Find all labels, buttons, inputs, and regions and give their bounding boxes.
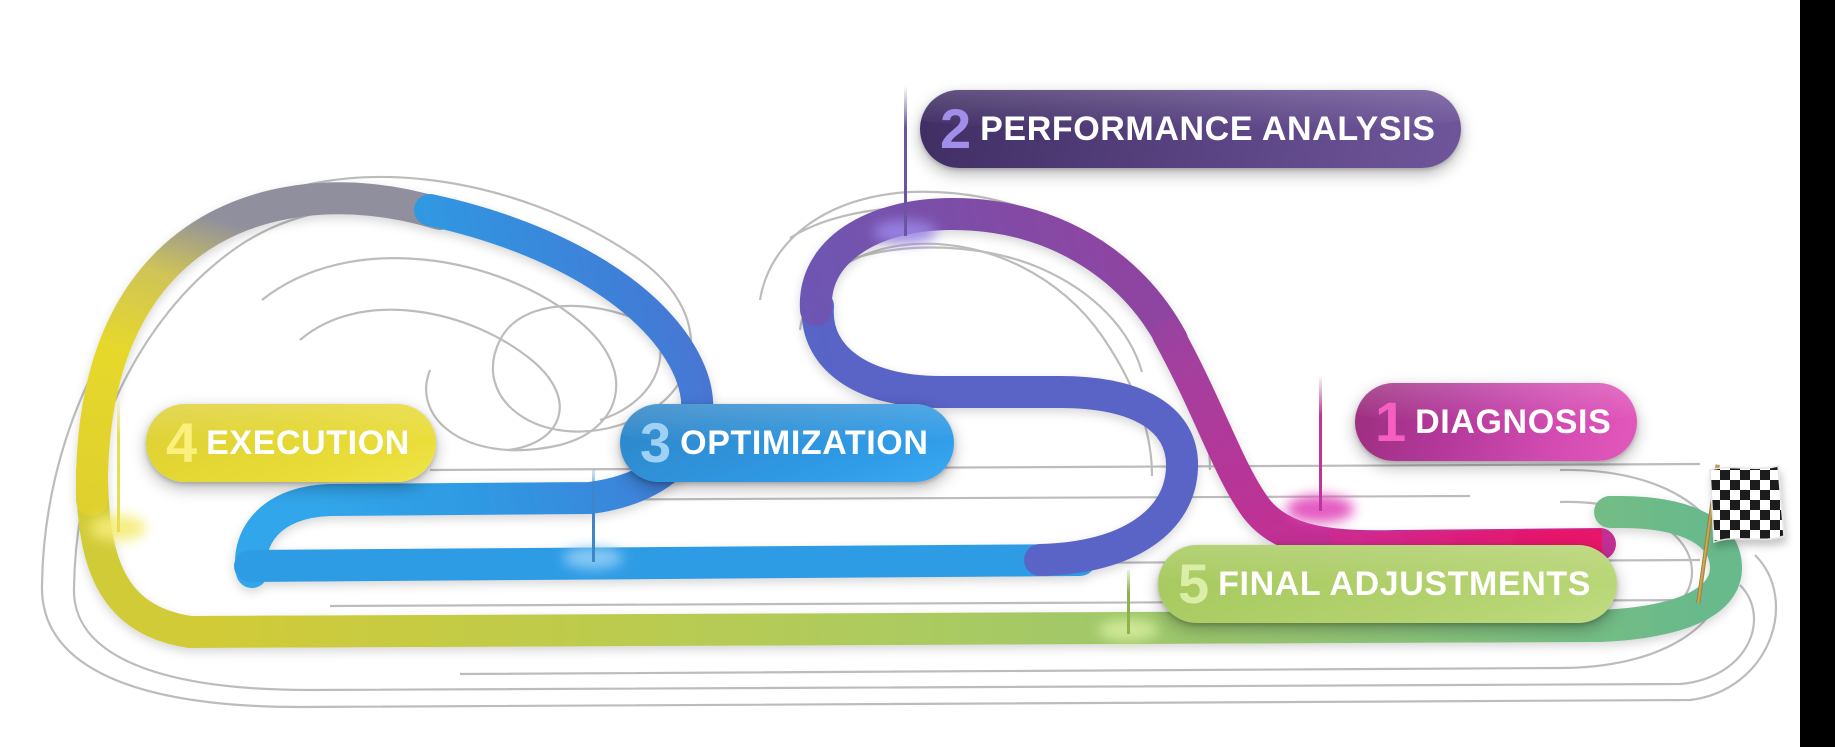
step-label-1[interactable]: 1 DIAGNOSIS	[1355, 383, 1637, 461]
step-number-2: 2	[940, 101, 970, 157]
racing-track	[0, 0, 1800, 747]
track-segment-blue-straight	[250, 560, 1080, 566]
step-label-5[interactable]: 5 FINAL ADJUSTMENTS	[1158, 545, 1617, 623]
checkered-flag-icon	[1680, 450, 1800, 630]
flag-cloth	[1710, 466, 1784, 542]
connector-line-5	[1127, 570, 1130, 634]
infographic-stage: 2 PERFORMANCE ANALYSIS 1 DIAGNOSIS 3 OPT…	[0, 0, 1835, 747]
diagram-canvas: 2 PERFORMANCE ANALYSIS 1 DIAGNOSIS 3 OPT…	[0, 0, 1800, 747]
step-text-2: PERFORMANCE ANALYSIS	[980, 110, 1435, 149]
step-number-1: 1	[1375, 394, 1405, 450]
connector-line-1	[1319, 375, 1322, 511]
connector-line-3	[592, 470, 595, 562]
track-segment-blue-loop	[251, 210, 697, 572]
step-text-4: EXECUTION	[206, 424, 410, 463]
step-label-4[interactable]: 4 EXECUTION	[146, 404, 436, 482]
step-text-3: OPTIMIZATION	[680, 424, 928, 463]
step-number-4: 4	[166, 415, 196, 471]
right-black-band	[1800, 0, 1835, 747]
track-segment-purple	[816, 214, 1172, 340]
connector-line-2	[904, 86, 907, 236]
step-number-5: 5	[1178, 556, 1208, 612]
step-number-3: 3	[640, 415, 670, 471]
step-label-3[interactable]: 3 OPTIMIZATION	[620, 404, 954, 482]
step-text-5: FINAL ADJUSTMENTS	[1218, 565, 1591, 604]
step-label-2[interactable]: 2 PERFORMANCE ANALYSIS	[920, 90, 1461, 168]
connector-line-4	[117, 396, 120, 532]
step-text-1: DIAGNOSIS	[1415, 403, 1611, 442]
